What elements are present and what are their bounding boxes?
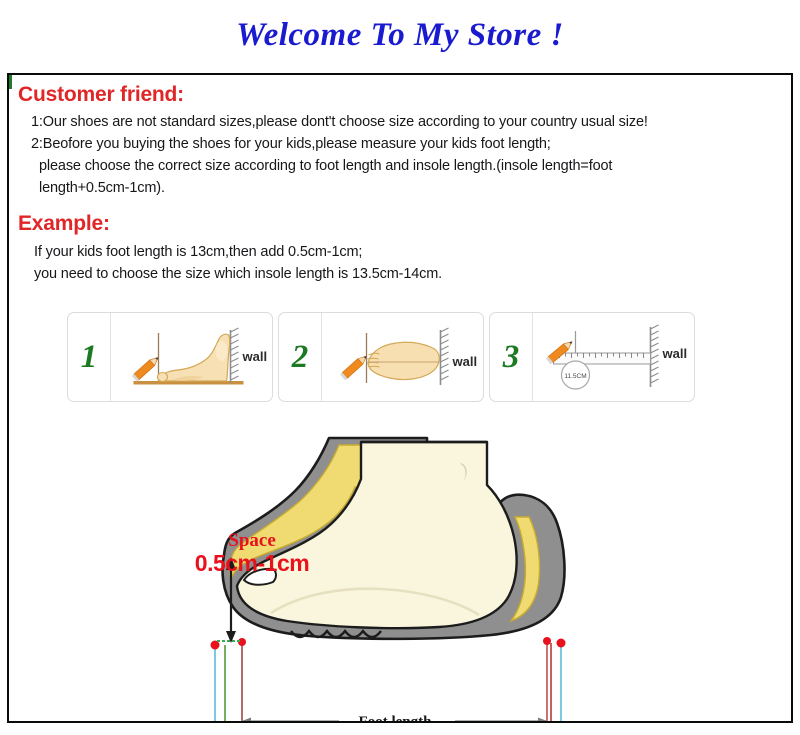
measuring-steps: 1: [67, 312, 695, 402]
step-card-1: 1: [67, 312, 273, 402]
example-heading: Example:: [9, 204, 791, 237]
content-frame: Customer friend: 1:Our shoes are not sta…: [7, 73, 793, 723]
example-line-1: If your kids foot length is 13cm,then ad…: [9, 238, 791, 263]
customer-friend-heading: Customer friend:: [9, 75, 791, 108]
step-illustration-top-foot: wall: [322, 313, 483, 401]
step-number-3: 3: [490, 313, 533, 401]
step-illustration-ruler: 11.5CM wall: [533, 313, 694, 401]
customer-friend-line-4: length+0.5cm-1cm).: [9, 177, 791, 199]
step-number-1: 1: [68, 313, 111, 401]
shoe-cross-section-diagram: Foot length Inside length Outsole length: [9, 405, 791, 721]
page-title: Welcome To My Store !: [0, 0, 800, 52]
customer-friend-section: Customer friend: 1:Our shoes are not sta…: [9, 75, 791, 199]
step-card-3: 3: [489, 312, 695, 402]
step-card-2: 2: [278, 312, 484, 402]
svg-text:wall: wall: [452, 354, 478, 369]
svg-text:wall: wall: [662, 346, 688, 361]
example-line-2: you need to choose the size which insole…: [9, 263, 791, 285]
customer-friend-line-3: please choose the correct size according…: [9, 155, 791, 177]
svg-text:wall: wall: [242, 349, 268, 364]
customer-friend-line-1: 1:Our shoes are not standard sizes,pleas…: [9, 108, 791, 133]
measurement-label-foot-length: Foot length: [359, 714, 433, 721]
ruler-reading-value: 11.5CM: [564, 373, 586, 380]
customer-friend-line-2: 2:Beofore you buying the shoes for your …: [9, 133, 791, 155]
example-section: Example: If your kids foot length is 13c…: [9, 199, 791, 284]
step-number-2: 2: [279, 313, 322, 401]
step-illustration-side-foot: wall: [111, 313, 272, 401]
